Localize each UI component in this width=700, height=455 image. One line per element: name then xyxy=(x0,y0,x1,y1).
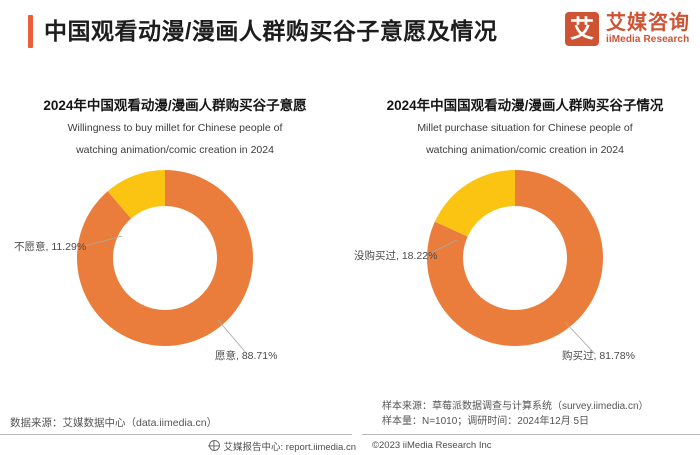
slice-label-minor-right: 没购买过, 18.22% xyxy=(354,250,437,263)
sample-source-text: 样本来源：草莓派数据调查与计算系统（survey.iimedia.cn） xyxy=(382,399,649,414)
slice-label-major-left: 愿意, 88.71% xyxy=(215,350,277,363)
source-note-left: 数据来源：艾媒数据中心（data.iimedia.cn） xyxy=(10,416,217,430)
source-note-right: 样本来源：草莓派数据调查与计算系统（survey.iimedia.cn） 样本量… xyxy=(382,399,649,429)
donut-slice-major-left xyxy=(77,170,253,346)
globe-icon xyxy=(209,440,220,451)
brand-logo: 艾 艾媒咨询 iiMedia Research xyxy=(565,12,690,46)
chart-subtitle-left-line2: watching animation/comic creation in 202… xyxy=(0,141,350,160)
brand-mark-icon: 艾 xyxy=(565,12,599,46)
chart-title-right: 2024年中国国观看动漫/漫画人群购买谷子情况 xyxy=(350,96,700,116)
chart-panel-purchase: 2024年中国国观看动漫/漫画人群购买谷子情况 Millet purchase … xyxy=(350,96,700,386)
chart-subtitle-left-line1: Willingness to buy millet for Chinese pe… xyxy=(0,119,350,138)
donut-svg-right xyxy=(425,168,625,364)
donut-chart-right: 没购买过, 18.22% 购买过, 81.78% xyxy=(350,168,700,368)
title-accent-bar xyxy=(28,15,33,48)
donut-svg-left xyxy=(75,168,275,364)
chart-subtitle-right-line1: Millet purchase situation for Chinese pe… xyxy=(350,119,700,138)
brand-name-en: iiMedia Research xyxy=(606,34,690,46)
footer-divider-left xyxy=(0,434,352,435)
page-title: 中国观看动漫/漫画人群购买谷子意愿及情况 xyxy=(44,15,497,48)
brand-name-cn: 艾媒咨询 xyxy=(606,13,690,34)
chart-title-left: 2024年中国观看动漫/漫画人群购买谷子意愿 xyxy=(0,96,350,116)
chart-subtitle-right-line2: watching animation/comic creation in 202… xyxy=(350,141,700,160)
slice-label-minor-left: 不愿意, 11.29% xyxy=(14,241,86,254)
footer-divider-right xyxy=(362,434,700,435)
chart-panel-willingness: 2024年中国观看动漫/漫画人群购买谷子意愿 Willingness to bu… xyxy=(0,96,350,386)
copyright-text: ©2023 iiMedia Research Inc xyxy=(372,440,491,451)
report-center-group[interactable]: 艾媒报告中心: report.iimedia.cn xyxy=(209,439,357,453)
donut-slice-minor-right xyxy=(435,170,515,237)
page-header: 中国观看动漫/漫画人群购买谷子意愿及情况 艾 艾媒咨询 iiMedia Rese… xyxy=(0,0,700,62)
brand-text: 艾媒咨询 iiMedia Research xyxy=(606,13,690,46)
footer-bar: 艾媒报告中心: report.iimedia.cn ©2023 iiMedia … xyxy=(0,436,700,455)
slice-label-major-right: 购买过, 81.78% xyxy=(562,350,635,363)
report-center-link[interactable]: 艾媒报告中心: report.iimedia.cn xyxy=(224,439,357,453)
chart-page: 中国观看动漫/漫画人群购买谷子意愿及情况 艾 艾媒咨询 iiMedia Rese… xyxy=(0,0,700,455)
sample-size-text: 样本量：N=1010；调研时间：2024年12月 5日 xyxy=(382,414,649,429)
donut-chart-left: 不愿意, 11.29% 愿意, 88.71% xyxy=(0,168,350,368)
leader-line-major-left xyxy=(218,320,247,354)
